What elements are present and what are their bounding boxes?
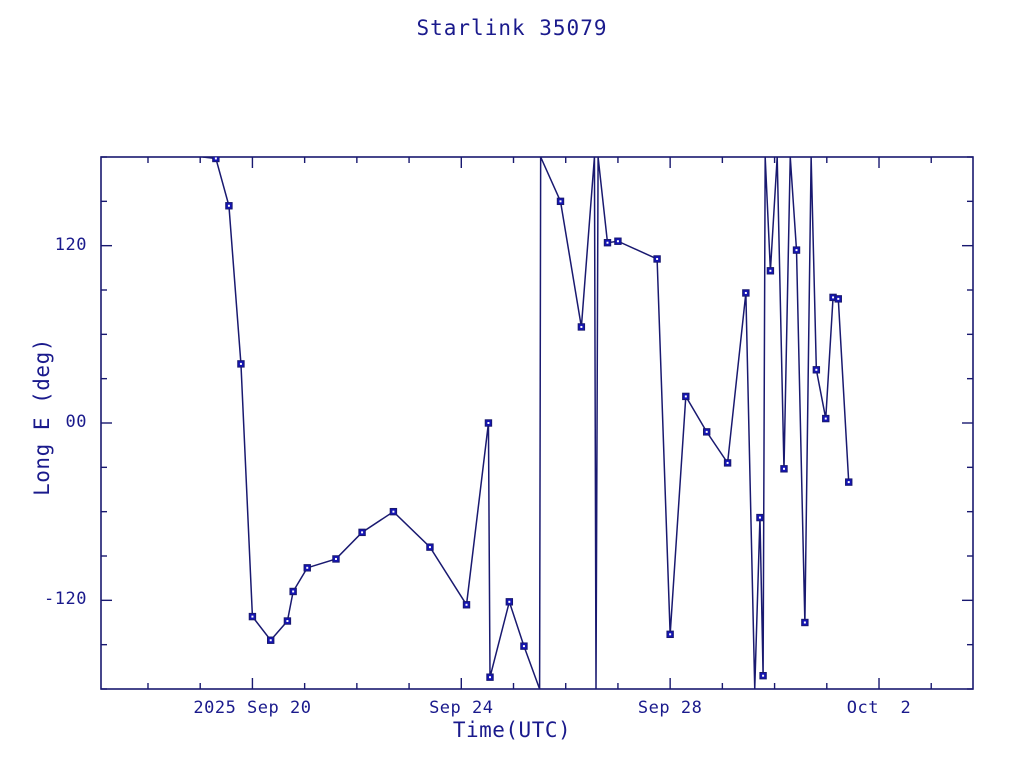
data-point-marker-center — [769, 270, 771, 272]
data-point-marker-center — [508, 601, 510, 603]
data-point-marker-center — [832, 296, 834, 298]
data-point-marker-center — [580, 326, 582, 328]
data-point-marker-center — [617, 240, 619, 242]
data-point-marker-center — [727, 462, 729, 464]
data-point-marker-center — [240, 363, 242, 365]
data-point-marker-center — [270, 639, 272, 641]
data-point-marker-center — [796, 249, 798, 251]
data-point-marker-center — [251, 616, 253, 618]
data-point-marker-center — [848, 481, 850, 483]
data-point-marker-center — [804, 622, 806, 624]
data-point-marker-center — [523, 645, 525, 647]
data-point-marker-center — [335, 558, 337, 560]
data-point-marker-center — [228, 205, 230, 207]
data-point-marker-center — [759, 517, 761, 519]
data-point-marker-center — [429, 546, 431, 548]
y-axis-tick-label: 120 — [7, 235, 87, 255]
data-point-marker-center — [706, 431, 708, 433]
x-axis-tick-label: 2025 Sep 20 — [152, 698, 352, 718]
x-axis-tick-label: Oct 2 — [779, 698, 979, 718]
data-point-marker-center — [825, 418, 827, 420]
data-point-marker-center — [783, 468, 785, 470]
data-point-marker-center — [489, 676, 491, 678]
data-point-marker-center — [215, 157, 217, 159]
data-point-marker-center — [685, 395, 687, 397]
y-axis-tick-label: 00 — [7, 412, 87, 432]
data-point-marker-center — [837, 298, 839, 300]
data-point-marker-center — [560, 200, 562, 202]
data-point-marker-center — [815, 369, 817, 371]
x-axis-tick-label: Sep 24 — [361, 698, 561, 718]
data-point-marker-center — [306, 567, 308, 569]
data-point-marker-center — [762, 675, 764, 677]
data-point-marker-center — [669, 633, 671, 635]
data-point-marker-center — [745, 292, 747, 294]
data-point-marker-center — [656, 258, 658, 260]
x-axis-title: Time(UTC) — [0, 718, 1024, 742]
x-axis-tick-label: Sep 28 — [570, 698, 770, 718]
data-point-marker-center — [606, 242, 608, 244]
data-point-marker-center — [392, 511, 394, 513]
data-point-marker-center — [487, 422, 489, 424]
data-point-marker-center — [286, 620, 288, 622]
y-axis-tick-label: -120 — [7, 589, 87, 609]
data-point-marker-center — [361, 531, 363, 533]
chart-figure: Starlink 35079 Long E (deg) Time(UTC) 12… — [0, 0, 1024, 768]
data-point-marker-center — [292, 590, 294, 592]
longitude-vs-time-plot — [0, 0, 1024, 768]
data-point-marker-center — [466, 604, 468, 606]
